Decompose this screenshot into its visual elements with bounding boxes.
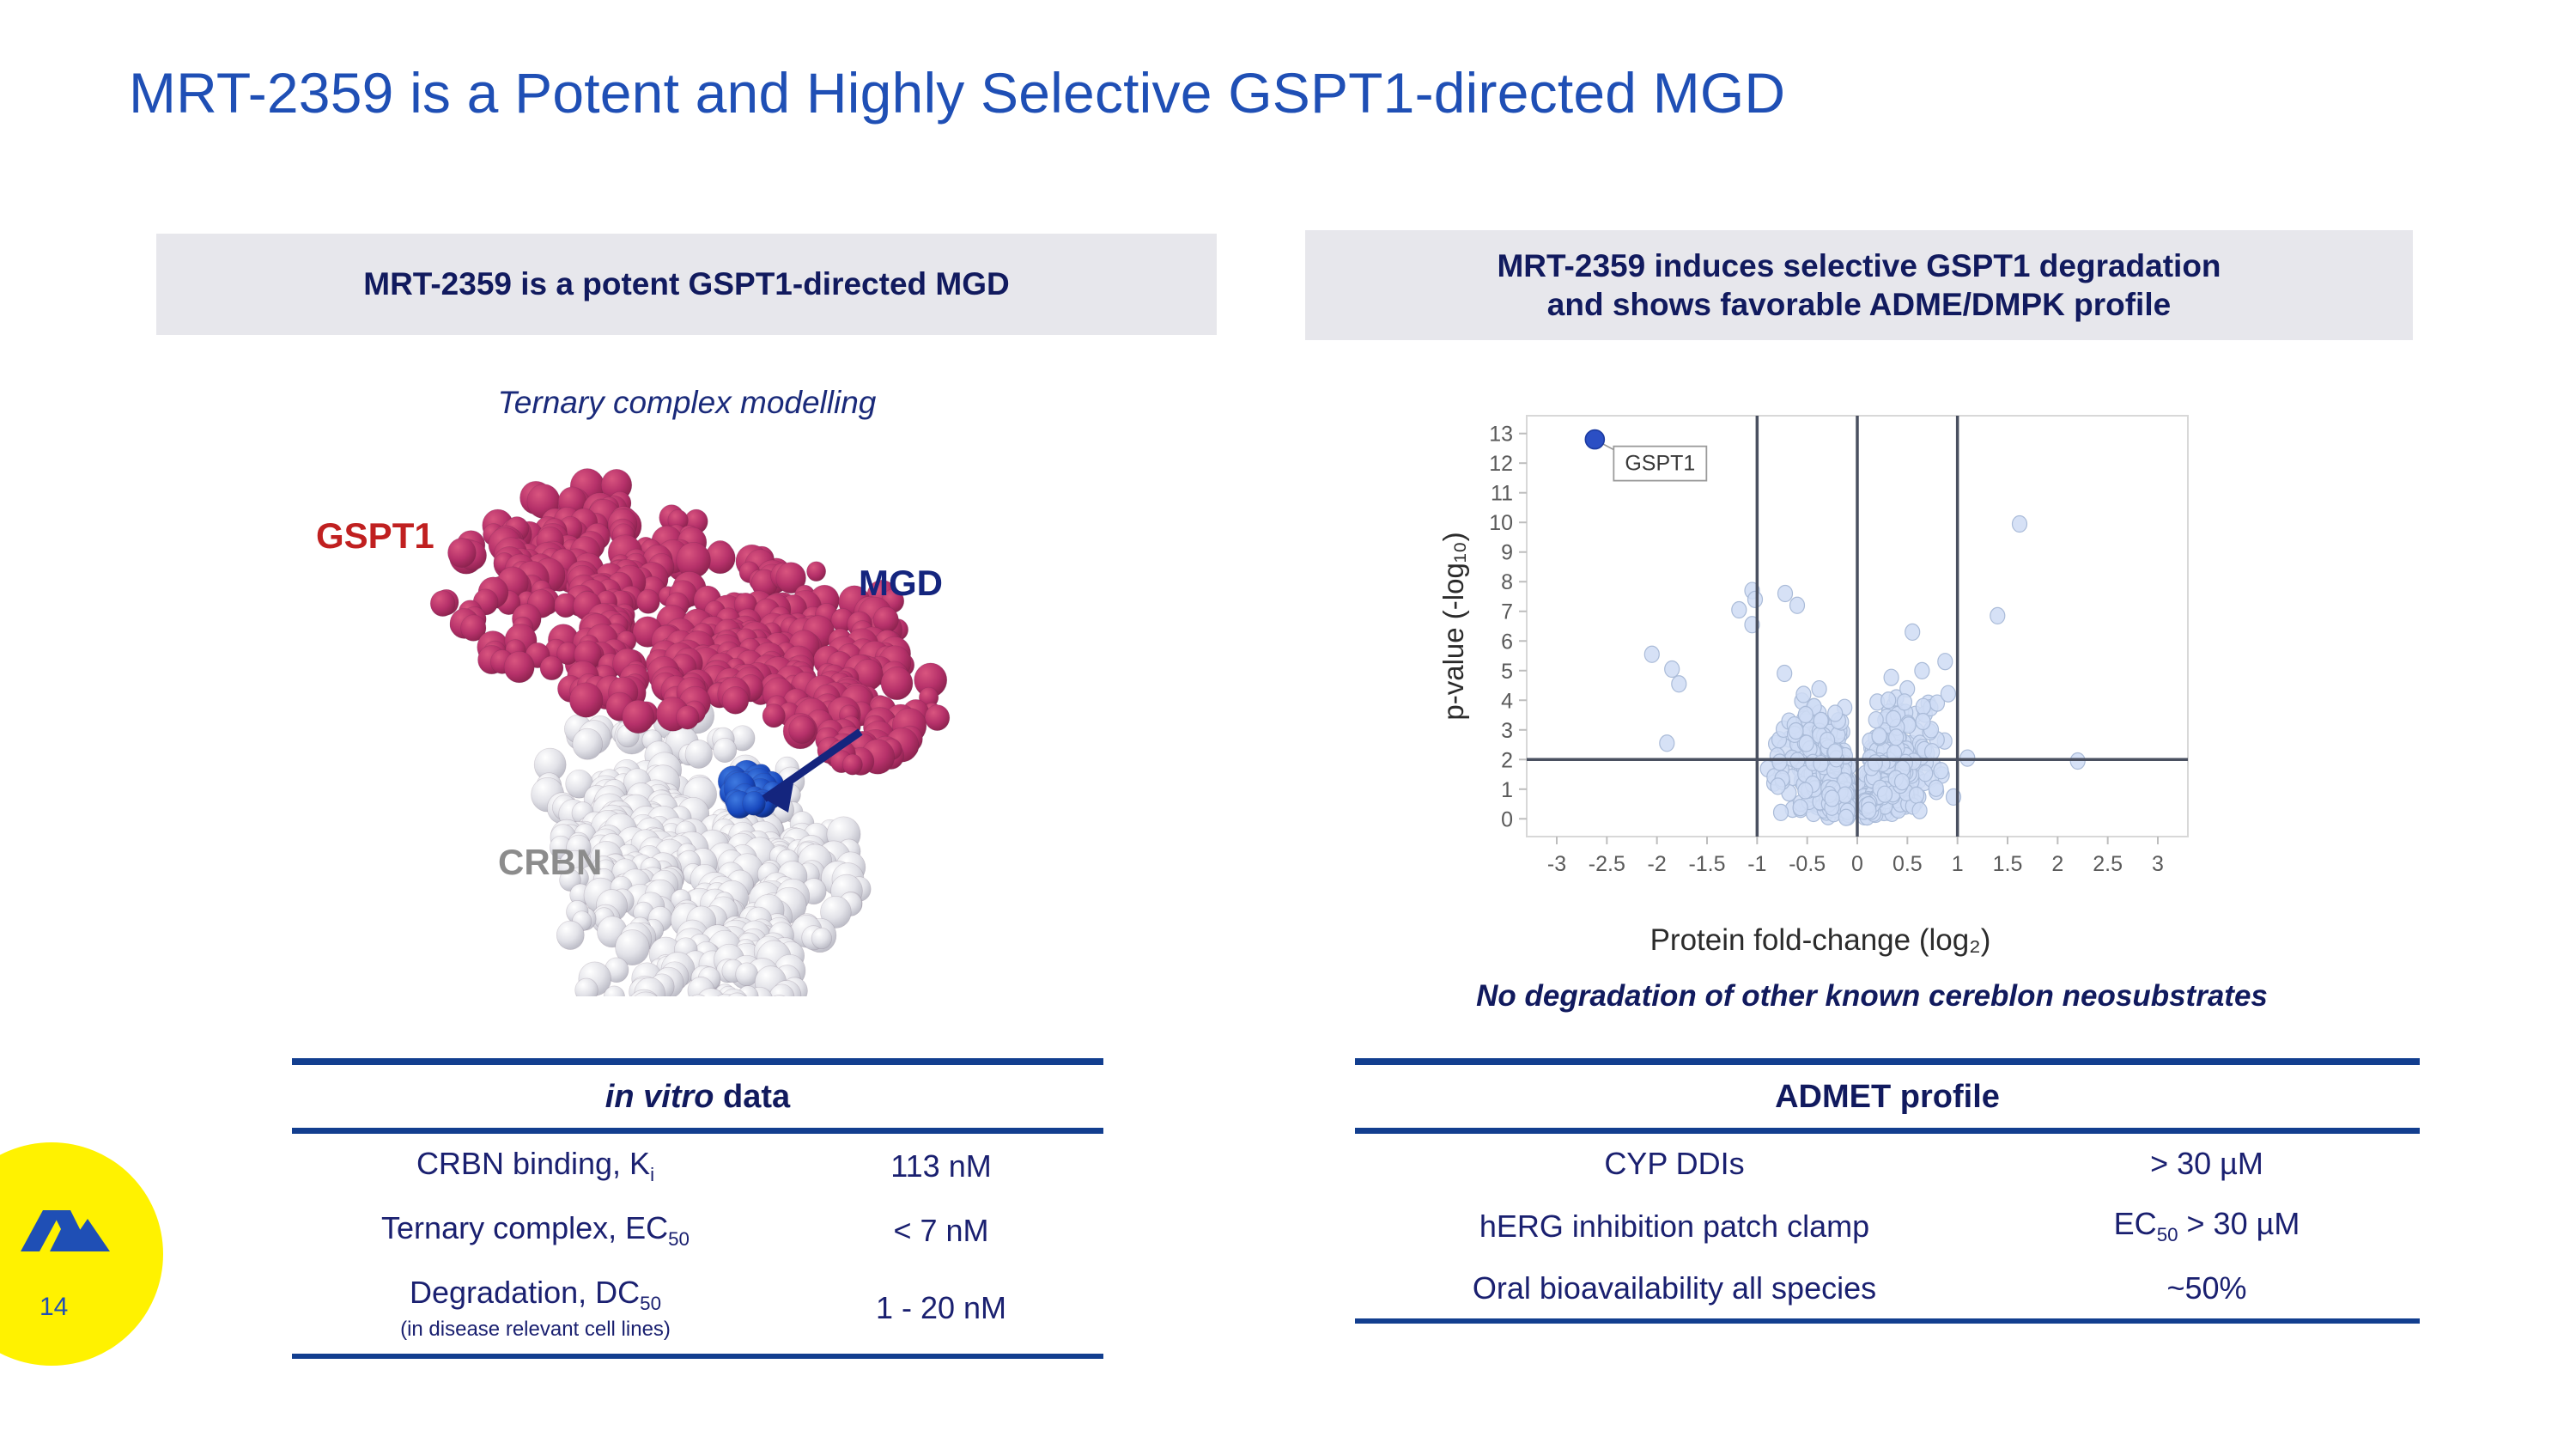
- x-tick-label: -1: [1747, 852, 1766, 876]
- row-value-text: ~50%: [2166, 1270, 2246, 1306]
- scatter-point: [1665, 661, 1680, 677]
- row-value: 113 nM: [779, 1134, 1103, 1198]
- x-tick-label: 1.5: [1993, 852, 2023, 876]
- y-tick-label: 11: [1491, 482, 1513, 506]
- row-label: CYP DDIs: [1355, 1134, 1994, 1194]
- scatter-point: [1660, 735, 1674, 752]
- crbn-label: CRBN: [498, 842, 602, 883]
- row-label: CRBN binding, Ki: [292, 1134, 779, 1198]
- scatter-point: [1916, 713, 1930, 729]
- admet-table-title: ADMET profile: [1355, 1065, 2420, 1128]
- table-row: hERG inhibition patch clamp EC50 > 30 µM: [1355, 1194, 2420, 1258]
- gspt1-label: GSPT1: [316, 515, 434, 557]
- x-tick-label: -2: [1648, 852, 1667, 876]
- scatter-point: [1898, 694, 1912, 710]
- scatter-point: [1838, 809, 1853, 825]
- slide-root: MRT-2359 is a Potent and Highly Selectiv…: [0, 0, 2576, 1449]
- scatter-point: [1862, 802, 1876, 819]
- scatter-point: [1828, 705, 1843, 721]
- scatter-point: [1938, 654, 1953, 670]
- table-rule-mid: [292, 1128, 1103, 1134]
- scatter-point: [1793, 800, 1807, 816]
- row-label-sub: i: [650, 1164, 654, 1185]
- row-value: < 7 nM: [779, 1198, 1103, 1263]
- row-value: EC50 > 30 µM: [1994, 1194, 2420, 1258]
- y-tick-label: 5: [1501, 660, 1513, 684]
- scatter-point: [1796, 686, 1811, 703]
- ternary-complex-figure: [283, 429, 1108, 996]
- table-rule-top: [292, 1058, 1103, 1065]
- row-label: Oral bioavailability all species: [1355, 1258, 1994, 1318]
- left-panel-header: MRT-2359 is a potent GSPT1-directed MGD: [156, 234, 1217, 335]
- row-value: ~50%: [1994, 1258, 2420, 1318]
- scatter-point: [1772, 754, 1787, 770]
- scatter-point: [2013, 515, 2027, 532]
- in-vitro-table-title: in vitro data: [292, 1065, 1103, 1128]
- x-tick-label: -2.5: [1589, 852, 1625, 876]
- x-tick-label: 3: [2152, 852, 2164, 876]
- scatter-point: [1644, 646, 1659, 662]
- gspt1-highlight-point: [1585, 430, 1604, 449]
- in-vitro-title-rest: data: [714, 1079, 790, 1115]
- x-tick-label: 0: [1851, 852, 1863, 876]
- scatter-point: [1934, 763, 1948, 779]
- scatter-point: [1941, 685, 1955, 702]
- right-panel-header-line1: MRT-2359 induces selective GSPT1 degrada…: [1497, 247, 2221, 285]
- gspt1-callout-label: GSPT1: [1625, 452, 1695, 476]
- table-rule-mid: [1355, 1128, 2420, 1134]
- row-label-note: (in disease relevant cell lines): [292, 1318, 779, 1342]
- x-tick-label: 2.5: [2093, 852, 2123, 876]
- scatter-point: [1884, 669, 1899, 685]
- scatter-point: [1990, 607, 2005, 624]
- y-tick-label: 2: [1501, 748, 1513, 772]
- page-title: MRT-2359 is a Potent and Highly Selectiv…: [129, 60, 2447, 125]
- scatter-point: [1912, 802, 1927, 819]
- volcano-x-axis-title: Protein fold-change (log₂): [1425, 923, 2215, 958]
- y-tick-label: 0: [1501, 807, 1513, 831]
- scatter-point: [1774, 804, 1789, 820]
- table-row: Ternary complex, EC50 < 7 nM: [292, 1198, 1103, 1263]
- scatter-point: [1895, 774, 1910, 790]
- scatter-point: [1889, 729, 1904, 746]
- x-tick-label: -1.5: [1688, 852, 1725, 876]
- volcano-caption: No degradation of other known cereblon n…: [1374, 979, 2370, 1014]
- scatter-point: [1915, 662, 1929, 679]
- scatter-point: [1838, 787, 1852, 803]
- volcano-plot: 012345678910111213-3-2.5-2-1.5-1-0.500.5…: [1434, 404, 2207, 910]
- scatter-point: [1778, 585, 1793, 601]
- right-panel-header: MRT-2359 induces selective GSPT1 degrada…: [1305, 230, 2413, 340]
- row-value: > 30 µM: [1994, 1134, 2420, 1194]
- admet-profile-table: ADMET profile CYP DDIs > 30 µM hERG inhi…: [1355, 1058, 2420, 1324]
- in-vitro-data-table: in vitro data CRBN binding, Ki 113 nM Te…: [292, 1058, 1103, 1359]
- scatter-point: [1918, 765, 1933, 782]
- x-tick-label: 0.5: [1893, 852, 1923, 876]
- x-tick-label: 1: [1952, 852, 1964, 876]
- row-value: 1 - 20 nM: [779, 1263, 1103, 1353]
- y-tick-label: 3: [1501, 719, 1513, 743]
- scatter-point: [1825, 790, 1839, 807]
- scatter-point: [1799, 735, 1814, 752]
- table-rule-bottom: [292, 1354, 1103, 1359]
- left-panel-header-text: MRT-2359 is a potent GSPT1-directed MGD: [363, 266, 1009, 302]
- volcano-plot-svg: 012345678910111213-3-2.5-2-1.5-1-0.500.5…: [1434, 404, 2207, 910]
- y-tick-label: 4: [1501, 689, 1513, 713]
- table-row: Degradation, DC50 (in disease relevant c…: [292, 1263, 1103, 1353]
- scatter-point: [1929, 780, 1943, 796]
- scatter-point: [1771, 778, 1785, 795]
- ternary-complex-caption: Ternary complex modelling: [0, 385, 1374, 421]
- scatter-point: [1672, 676, 1686, 692]
- scatter-point: [1868, 712, 1883, 728]
- scatter-point: [1910, 787, 1924, 803]
- company-logo-icon: [17, 1198, 120, 1267]
- scatter-point: [1881, 692, 1896, 709]
- scatter-point: [1732, 601, 1747, 618]
- x-tick-label: -0.5: [1789, 852, 1826, 876]
- scatter-point: [1798, 782, 1813, 799]
- scatter-point: [1878, 786, 1893, 802]
- mgd-label: MGD: [859, 563, 943, 604]
- y-tick-label: 7: [1501, 600, 1513, 624]
- table-row: CYP DDIs > 30 µM: [1355, 1134, 2420, 1194]
- scatter-point: [1812, 681, 1826, 697]
- y-axis-title-text: p-value (-log₁₀): [1437, 532, 1469, 720]
- table-row: Oral bioavailability all species ~50%: [1355, 1258, 2420, 1318]
- scatter-point: [1872, 728, 1886, 744]
- page-number: 14: [39, 1293, 68, 1322]
- scatter-point: [1886, 710, 1901, 727]
- row-value-text: > 30 µM: [2178, 1206, 2300, 1241]
- scatter-point: [1916, 698, 1930, 715]
- scatter-point: [1868, 755, 1882, 771]
- scatter-point: [1790, 597, 1805, 613]
- row-label-text: Ternary complex, EC: [381, 1210, 668, 1245]
- y-tick-label: 8: [1501, 570, 1513, 594]
- row-value-pre: EC: [2114, 1206, 2157, 1241]
- scatter-point: [1814, 712, 1828, 728]
- row-value-text: > 30 µM: [2150, 1146, 2263, 1181]
- row-label: Degradation, DC50 (in disease relevant c…: [292, 1263, 779, 1353]
- scatter-point: [1905, 624, 1920, 640]
- in-vitro-title-italic: in vitro: [605, 1079, 714, 1115]
- row-label: hERG inhibition patch clamp: [1355, 1194, 1994, 1258]
- table-row: CRBN binding, Ki 113 nM: [292, 1134, 1103, 1198]
- y-tick-label: 1: [1501, 778, 1513, 802]
- row-value-sub: 50: [2157, 1224, 2178, 1245]
- protein-structure-svg: [283, 429, 1108, 996]
- scatter-point: [1789, 722, 1803, 739]
- gspt1-surface: [430, 469, 950, 776]
- scatter-point: [1814, 756, 1828, 772]
- x-tick-label: 2: [2051, 852, 2063, 876]
- y-axis-title: p-value (-log₁₀): [1437, 532, 1469, 720]
- y-tick-label: 10: [1489, 511, 1513, 535]
- row-label: Ternary complex, EC50: [292, 1198, 779, 1263]
- scatter-point: [1798, 706, 1813, 722]
- x-tick-label: -3: [1547, 852, 1566, 876]
- row-label-sub: 50: [668, 1228, 690, 1250]
- row-label-text: CRBN binding, K: [416, 1146, 650, 1181]
- scatter-point: [1925, 744, 1940, 760]
- y-tick-label: 6: [1501, 630, 1513, 654]
- y-tick-label: 12: [1489, 452, 1513, 476]
- scatter-point: [1748, 591, 1763, 607]
- scatter-point: [1828, 744, 1843, 760]
- table-rule-top: [1355, 1058, 2420, 1065]
- right-panel-header-line2: and shows favorable ADME/DMPK profile: [1497, 285, 2221, 324]
- row-label-text: Degradation, DC: [410, 1275, 640, 1310]
- y-tick-label: 9: [1501, 541, 1513, 565]
- table-rule-bottom: [1355, 1318, 2420, 1324]
- y-tick-label: 13: [1489, 423, 1513, 447]
- scatter-point: [1777, 665, 1792, 681]
- row-label-sub: 50: [640, 1294, 661, 1315]
